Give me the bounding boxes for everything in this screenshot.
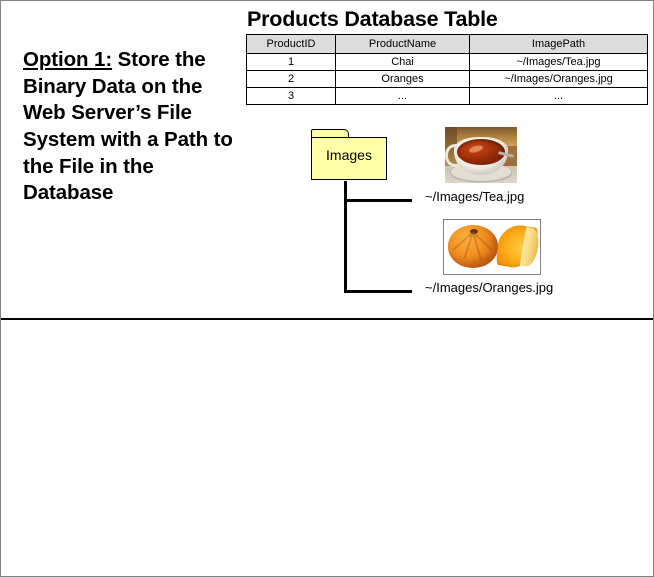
- option-1-caption: Option 1: Store the Binary Data on the W…: [23, 47, 235, 207]
- column-header-imagepath: ImagePath: [470, 35, 648, 54]
- folder-label: Images: [311, 147, 387, 163]
- oranges-photo: [443, 219, 541, 275]
- folder-icon: Images: [311, 129, 387, 181]
- column-header-productid: ProductID: [247, 35, 336, 54]
- file-path-label-tea: ~/Images/Tea.jpg: [425, 189, 524, 204]
- option-1-panel: Option 1: Store the Binary Data on the W…: [1, 1, 653, 319]
- diagram-canvas: Option 1: Store the Binary Data on the W…: [0, 0, 654, 577]
- column-header-productname: ProductName: [336, 35, 470, 54]
- file-system-tree: Images ~/Images/Tea.jpg: [249, 127, 649, 311]
- cell-productname: ...: [336, 88, 470, 105]
- table-row: 2 Oranges ~/Images/Oranges.jpg: [247, 71, 648, 88]
- tree-trunk-line: [344, 181, 347, 293]
- option-1-caption-rest: Store the Binary Data on the Web Server’…: [23, 48, 233, 204]
- table-row: 1 Chai ~/Images/Tea.jpg: [247, 54, 648, 71]
- table-row: 3 ... ...: [247, 88, 648, 105]
- cell-imagepath: ~/Images/Tea.jpg: [470, 54, 648, 71]
- option-1-table-title: Products Database Table: [247, 7, 498, 32]
- table-header-row: ProductID ProductName ImagePath: [247, 35, 648, 54]
- tea-cup-photo: [445, 127, 517, 183]
- cell-productid: 1: [247, 54, 336, 71]
- tree-branch-line-1: [344, 199, 412, 202]
- cell-productid: 3: [247, 88, 336, 105]
- cell-productname: Chai: [336, 54, 470, 71]
- cell-productid: 2: [247, 71, 336, 88]
- cell-productname: Oranges: [336, 71, 470, 88]
- tree-branch-line-2: [344, 290, 412, 293]
- option-1-products-table: ProductID ProductName ImagePath 1 Chai ~…: [246, 34, 648, 105]
- cell-imagepath: ~/Images/Oranges.jpg: [470, 71, 648, 88]
- file-path-label-oranges: ~/Images/Oranges.jpg: [425, 280, 553, 295]
- option-1-caption-lead: Option 1:: [23, 48, 112, 71]
- cell-imagepath: ...: [470, 88, 648, 105]
- option-2-panel: Option 2: Store the Binary Data in a Tab…: [1, 320, 653, 576]
